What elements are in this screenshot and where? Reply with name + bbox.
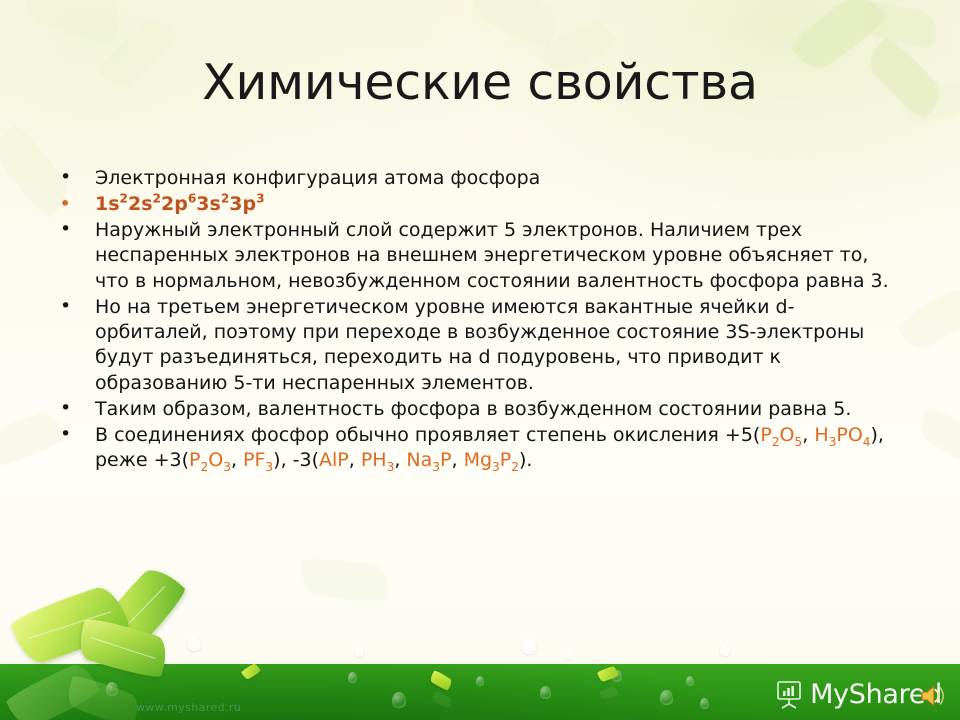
- water-droplet-icon: [700, 698, 709, 709]
- myshared-watermark: MyShared: [775, 679, 942, 710]
- formula-ph3: PH3: [361, 449, 394, 471]
- list-item: Наружный электронный слой содержит 5 эле…: [56, 218, 896, 294]
- slide-canvas: www.myshared.ru Химические свойства Элек…: [0, 0, 960, 720]
- list-item: Таким образом, валентность фосфора в воз…: [56, 397, 896, 422]
- water-droplet-icon: [540, 686, 551, 699]
- bullet-text: Электронная конфигурация атома фосфора: [95, 167, 540, 189]
- water-droplet-icon: [660, 690, 673, 705]
- floating-leaflet-icon: [240, 662, 261, 680]
- bullet-text: Но на третьем энергетическом уровне имею…: [95, 296, 864, 394]
- list-item: В соединениях фосфор обычно проявляет ст…: [56, 423, 896, 474]
- formula-alp: AlP: [319, 449, 349, 471]
- floating-leaflet-icon: [431, 690, 454, 710]
- water-droplet-icon: [188, 636, 201, 651]
- formula-separator: ,: [394, 449, 406, 471]
- formula-separator: ,: [231, 449, 243, 471]
- leaf-vein-icon: [90, 637, 155, 659]
- water-droplet-icon: [565, 650, 573, 660]
- bullet-text: Таким образом, валентность фосфора в воз…: [95, 398, 851, 420]
- formula-mg3p2: Mg3P2: [464, 449, 519, 471]
- bullet-text: Наружный электронный слой содержит 5 эле…: [95, 219, 889, 292]
- floating-leaflet-icon: [599, 686, 619, 700]
- bullet-text-tail: ).: [519, 449, 532, 471]
- water-droplet-icon: [355, 646, 364, 657]
- formula-separator: ,: [349, 449, 361, 471]
- water-droplet-icon: [720, 644, 730, 656]
- page-title: Химические свойства: [0, 58, 960, 109]
- bullet-list: Электронная конфигурация атома фосфора 1…: [56, 166, 896, 473]
- formula-na3p: Na3P: [406, 449, 451, 471]
- list-item: 1s22s22p63s23p3: [56, 192, 896, 217]
- water-droplet-icon: [476, 676, 484, 686]
- speaker-icon[interactable]: [918, 682, 948, 710]
- water-droplet-icon: [686, 676, 694, 686]
- bullet-text-lead: В соединениях фосфор обычно проявляет ст…: [95, 424, 760, 446]
- formula-separator: ,: [451, 449, 463, 471]
- formula-pf3: PF3: [243, 449, 273, 471]
- formula-separator: ,: [802, 424, 814, 446]
- water-droplet-icon: [522, 638, 536, 654]
- bullet-text: 1s22s22p63s23p3: [95, 193, 265, 215]
- list-item: Электронная конфигурация атома фосфора: [56, 166, 896, 191]
- water-droplet-icon: [348, 672, 357, 683]
- bullet-text-mid2: ), -3(: [273, 449, 319, 471]
- slide-content: Электронная конфигурация атома фосфора 1…: [56, 166, 896, 474]
- formula-p2o3: P2O3: [189, 449, 231, 471]
- formula-h3po4: H3PO4: [814, 424, 870, 446]
- presentation-chart-icon: [775, 680, 803, 710]
- list-item: Но на третьем энергетическом уровне имею…: [56, 295, 896, 397]
- faint-url-watermark: www.myshared.ru: [136, 701, 241, 714]
- water-droplet-icon: [392, 692, 406, 708]
- floating-leaflet-icon: [428, 669, 454, 692]
- formula-p2o5: P2O5: [760, 424, 802, 446]
